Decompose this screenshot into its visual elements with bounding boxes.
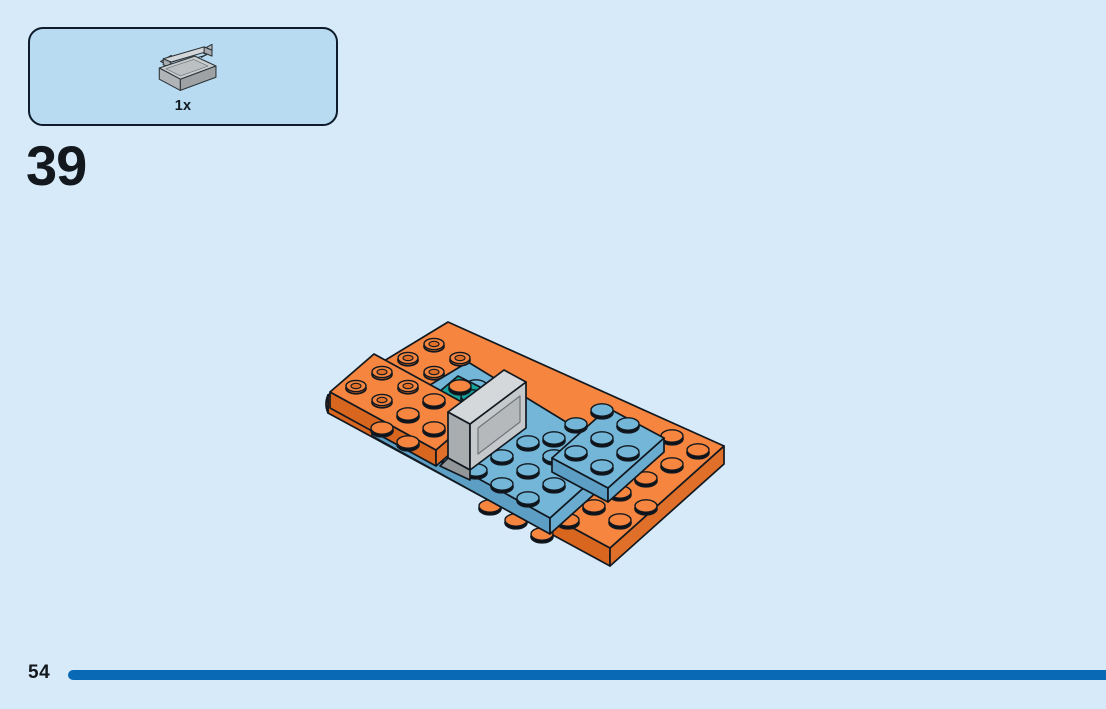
lego-brick-1x2-with-handle-icon: [143, 39, 223, 97]
step-number: 39: [26, 138, 86, 194]
progress-bar-fill: [68, 670, 1106, 680]
parts-callout-box: 1x: [28, 27, 338, 126]
page-number: 54: [28, 662, 50, 684]
part-entry: 1x: [30, 29, 336, 124]
part-quantity-label: 1x: [175, 98, 192, 114]
lego-assembly-isometric-svg: [320, 300, 760, 590]
progress-bar-track: [68, 670, 1106, 680]
build-illustration: [320, 300, 760, 590]
